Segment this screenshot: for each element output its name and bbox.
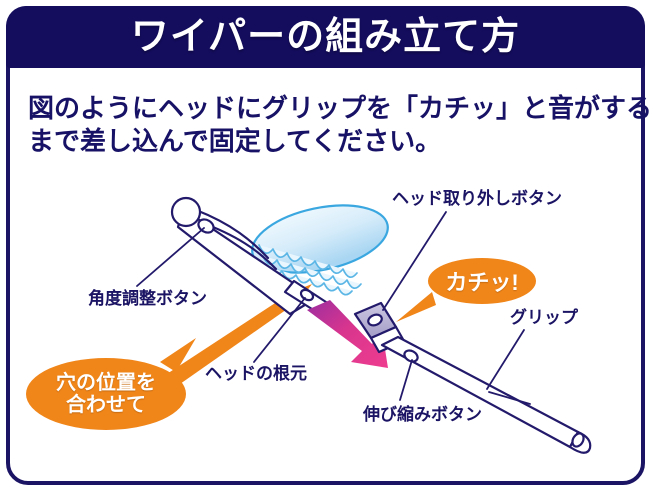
- label-head-release-button: ヘッド取り外しボタン: [392, 190, 562, 209]
- label-angle-adjust-button: 角度調整ボタン: [88, 290, 207, 309]
- callout-align-hole: 穴の位置を 合わせて: [26, 358, 186, 430]
- instruction-line-1: 図のようにヘッドにグリップを「カチッ」と音がする: [28, 92, 628, 125]
- callout-click-sound: カチッ!: [428, 258, 536, 304]
- page-title: ワイパーの組み立て方: [131, 18, 520, 56]
- callout-align-hole-line-2: 合わせて: [66, 394, 146, 416]
- instruction-text: 図のようにヘッドにグリップを「カチッ」と音がする まで差し込んで固定してください…: [28, 92, 628, 159]
- label-head-base: ヘッドの根元: [205, 365, 307, 384]
- title-bar: ワイパーの組み立て方: [6, 6, 645, 68]
- instruction-line-2: まで差し込んで固定してください。: [28, 125, 628, 158]
- label-extend-button: 伸び縮みボタン: [363, 406, 482, 425]
- infographic-page: ワイパーの組み立て方 図のようにヘッドにグリップを「カチッ」と音がする まで差し…: [0, 0, 651, 491]
- callout-click-sound-text: カチッ!: [445, 265, 518, 297]
- callout-align-hole-line-1: 穴の位置を: [56, 372, 156, 394]
- label-grip: グリップ: [510, 309, 578, 328]
